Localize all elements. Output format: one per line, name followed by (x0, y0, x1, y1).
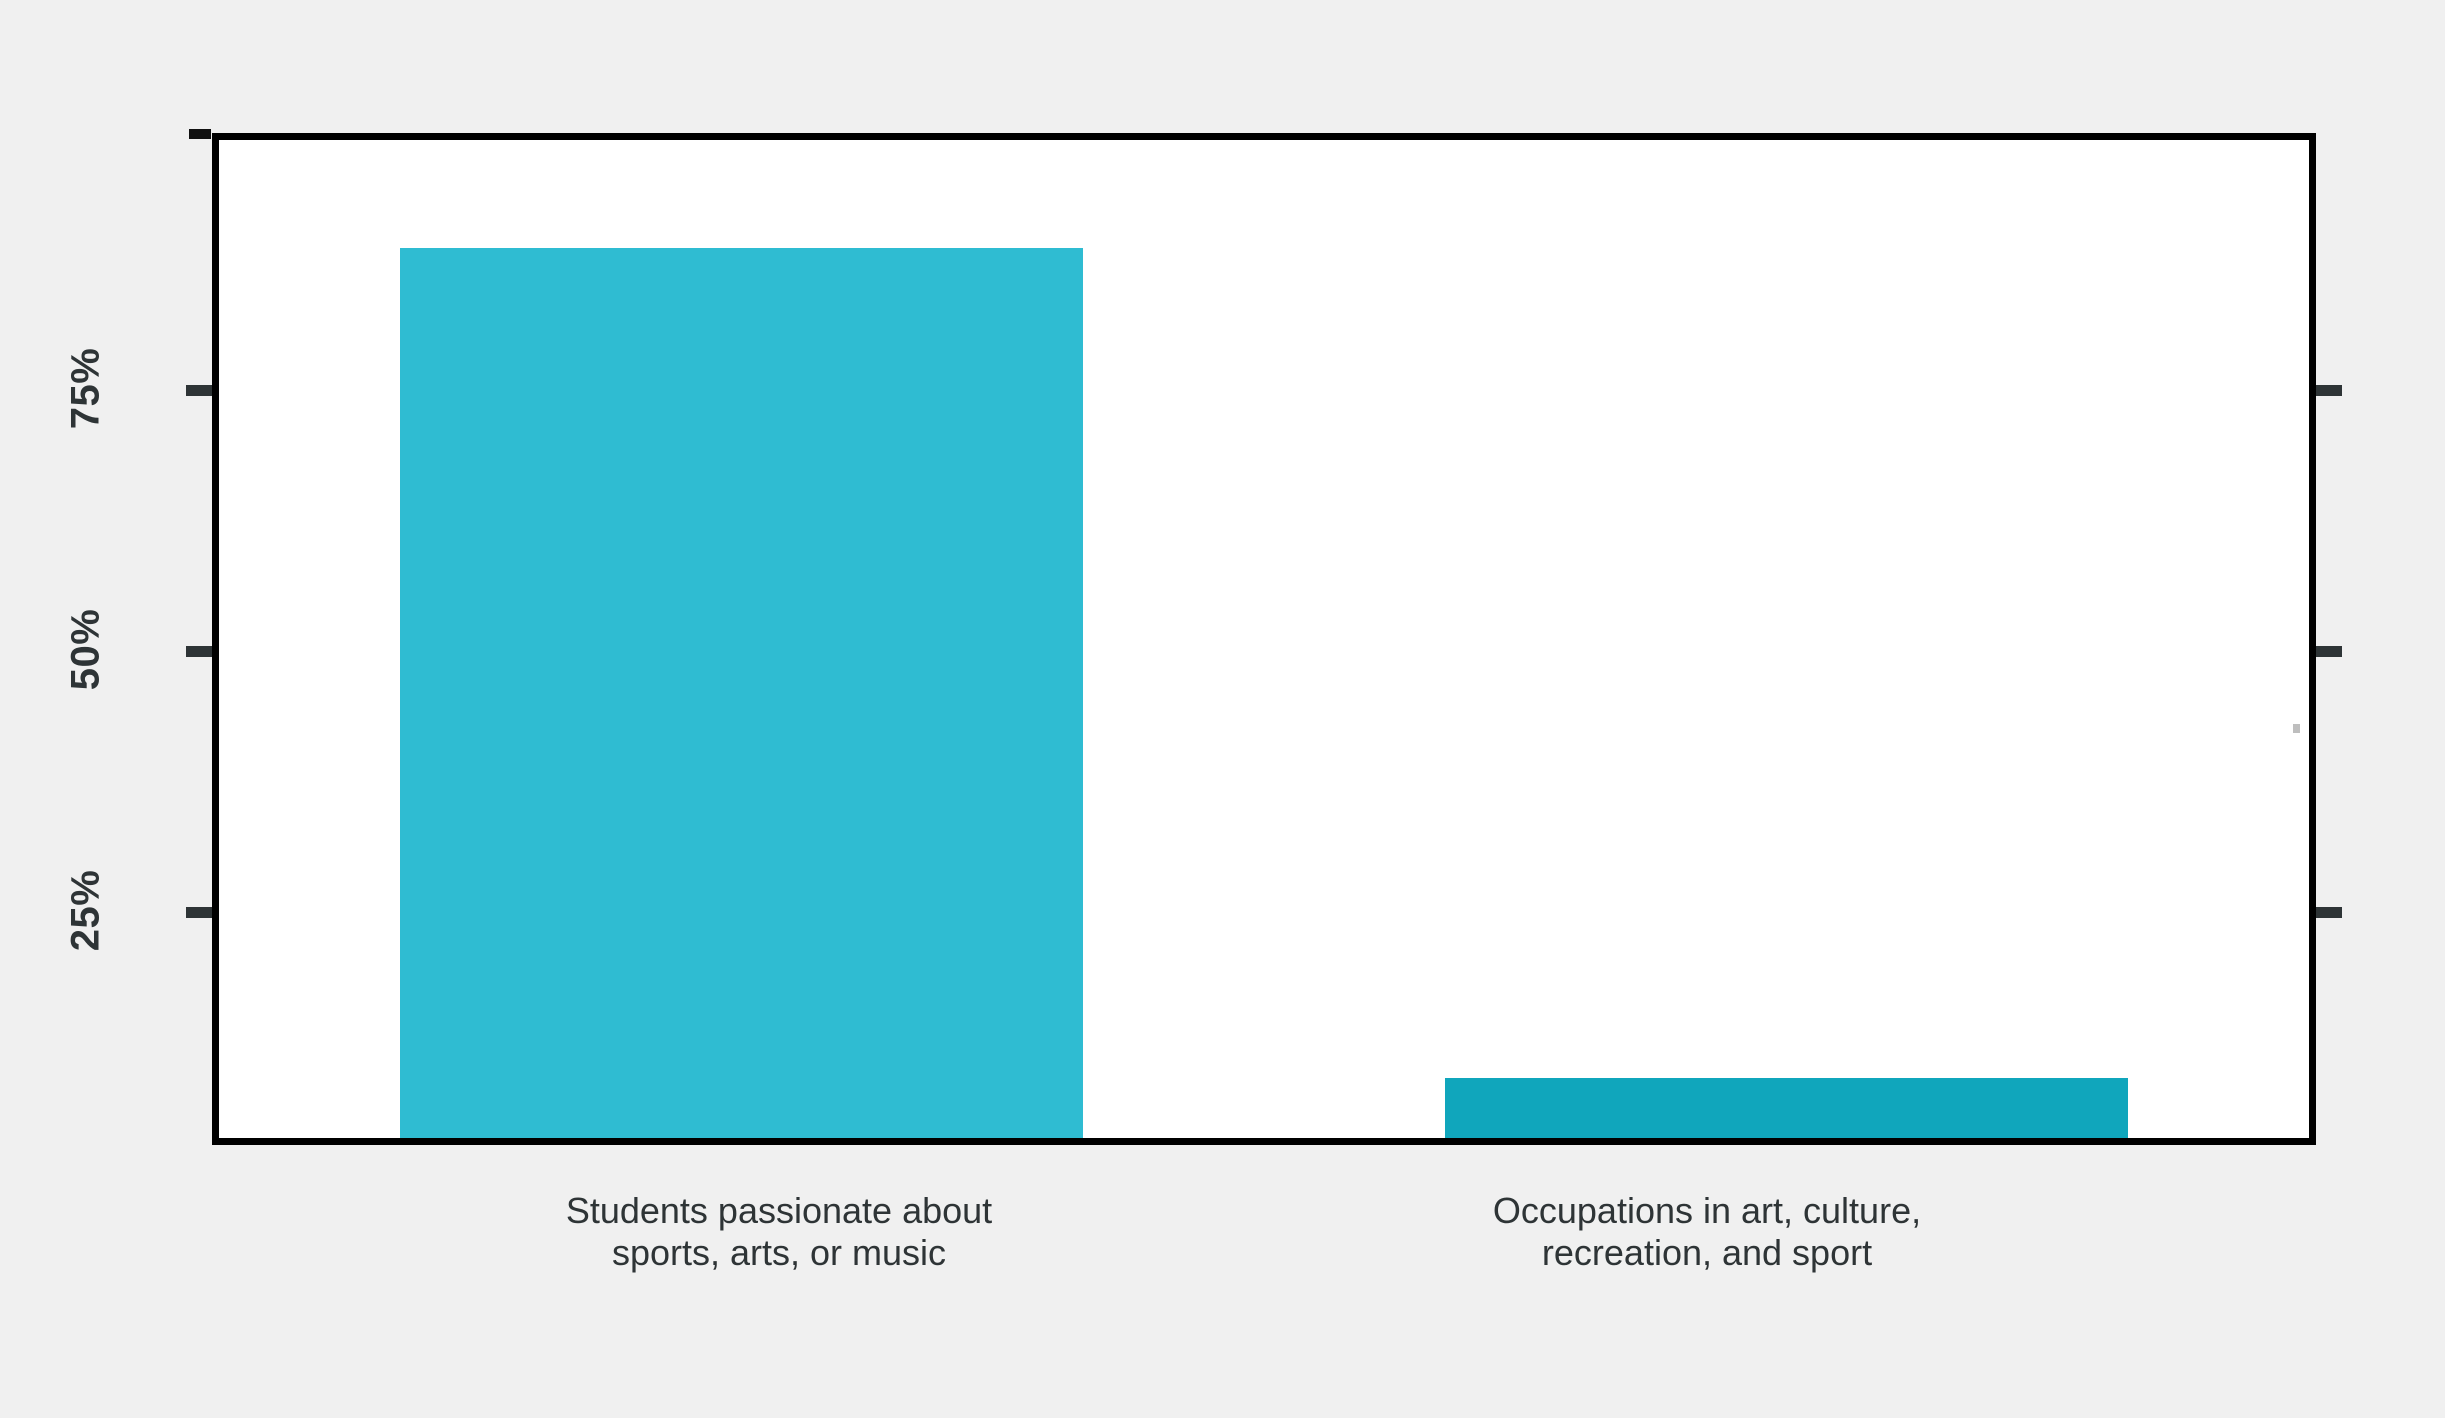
render-artifact (2293, 724, 2300, 733)
y-tick-mark-right-25 (2316, 907, 2342, 918)
bar-0[interactable] (400, 248, 1083, 1138)
y-tick-mark-25 (186, 907, 212, 918)
corner-tick-mark (189, 129, 211, 139)
bar-1[interactable] (1445, 1078, 2128, 1138)
plot-area (212, 133, 2316, 1145)
x-tick-label-0: Students passionate about sports, arts, … (438, 1190, 1120, 1275)
chart-figure: 75% 50% 25% Students passionate about sp… (0, 0, 2445, 1418)
y-tick-mark-75 (186, 385, 212, 396)
bars-layer (219, 140, 2309, 1138)
y-tick-label-75-text: 75% (64, 329, 109, 449)
x-tick-label-1: Occupations in art, culture, recreation,… (1366, 1190, 2048, 1275)
y-tick-label-25-text: 25% (64, 851, 109, 971)
y-tick-mark-right-75 (2316, 385, 2342, 396)
y-tick-mark-50 (186, 646, 212, 657)
y-tick-label-50-text: 50% (64, 590, 109, 710)
y-tick-mark-right-50 (2316, 646, 2342, 657)
